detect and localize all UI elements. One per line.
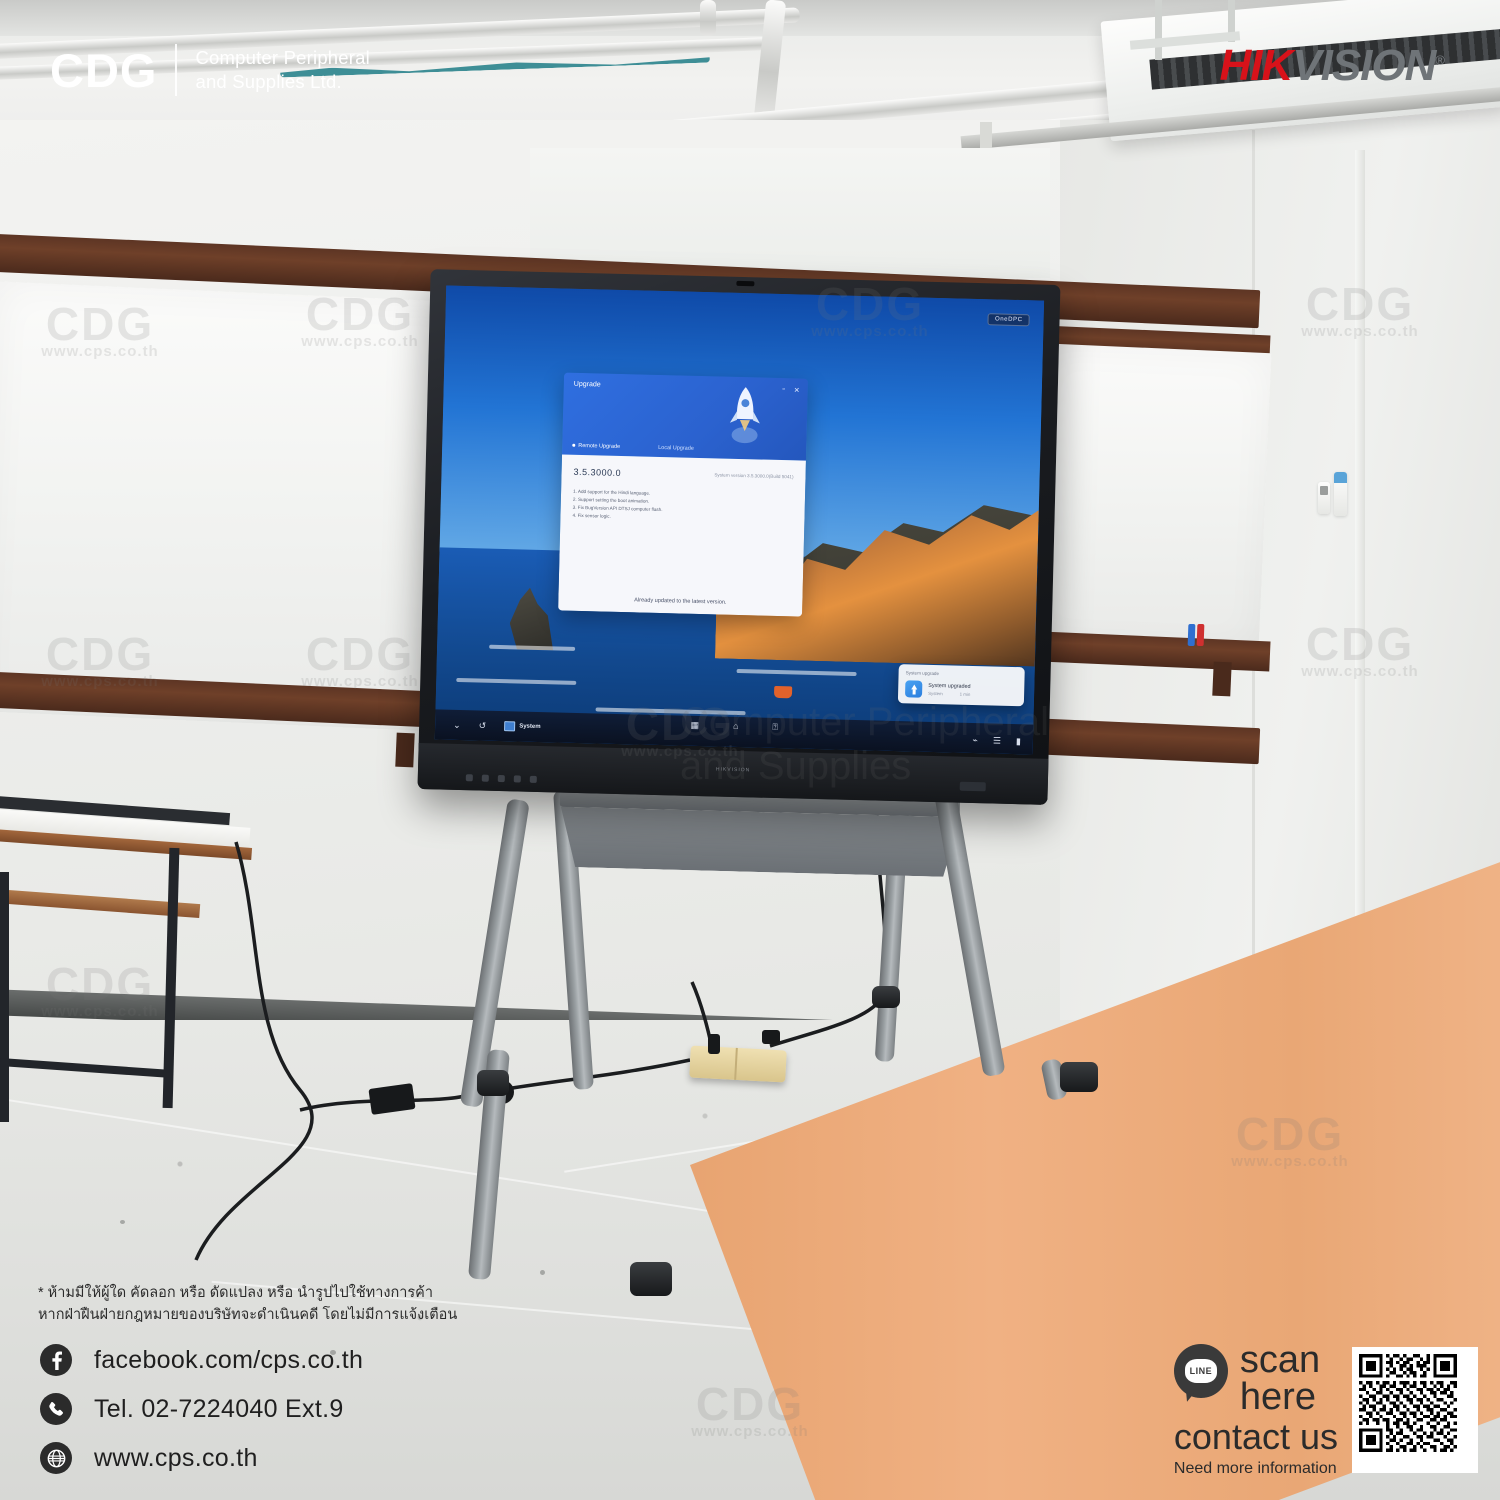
projector-screen [530, 148, 1050, 278]
toast-source: System [928, 691, 943, 696]
hikvision-vision: VISION [1292, 41, 1435, 90]
tab-remote-upgrade[interactable]: Remote Upgrade [572, 443, 620, 450]
upgrade-dialog[interactable]: Upgrade ▫ ✕ Remote Upgrade [558, 373, 808, 617]
system-upgrade-toast[interactable]: System upgrade System upgraded System 1 … [898, 664, 1025, 706]
dialog-window-controls[interactable]: ▫ ✕ [782, 386, 800, 394]
rocket-icon [726, 383, 764, 448]
phone-icon [40, 1393, 72, 1425]
taskbar-status-group[interactable]: ⌁ ☰ ▮ [972, 736, 1021, 746]
logo-divider [175, 44, 177, 96]
dialog-body: 3.5.3000.0 System version 3.5.3000.0(Bui… [558, 454, 806, 616]
taskbar-left-group[interactable]: ⌄ ↺ System [435, 719, 541, 732]
qr-code[interactable] [1352, 1347, 1478, 1473]
disclaimer-line1: * ห้ามมีให้ผู้ใด คัดลอก หรือ ดัดแปลง หรื… [38, 1282, 457, 1304]
dialog-header: Upgrade ▫ ✕ Remote Upgrade [562, 373, 808, 461]
cdg-tagline-line1: Computer Peripheral [195, 46, 370, 70]
stand-caster [872, 986, 900, 1008]
contact-row-facebook[interactable]: facebook.com/cps.co.th [40, 1344, 363, 1376]
contact-block: facebook.com/cps.co.th Tel. 02-7224040 E… [40, 1344, 363, 1491]
toast-header: System upgrade [906, 670, 1018, 678]
panel-button[interactable] [466, 774, 473, 781]
upgrade-icon [905, 680, 922, 697]
tray-bracket [395, 733, 414, 768]
ac-control-display [1334, 472, 1347, 483]
line-cta-block[interactable]: LINE scan here contact us Need more info… [1174, 1342, 1478, 1478]
contact-row-website[interactable]: www.cps.co.th [40, 1442, 363, 1474]
whiteboard-marker [1197, 624, 1205, 646]
toast-meta: System 1 min [928, 691, 970, 697]
registered-icon: ® [1435, 52, 1444, 67]
line-badge-label: LINE [1185, 1359, 1217, 1383]
panel-button[interactable] [514, 775, 521, 782]
line-cta-text: LINE scan here contact us Need more info… [1174, 1342, 1338, 1478]
minimize-icon[interactable]: ▫ [782, 386, 785, 394]
os-badge: OneDPC [988, 313, 1030, 326]
desk-leg [0, 872, 9, 1122]
panel-button-row[interactable] [466, 774, 537, 783]
settings-icon[interactable]: ☰ [993, 736, 1001, 745]
tab-local-upgrade[interactable]: Local Upgrade [658, 445, 694, 452]
globe-icon [40, 1442, 72, 1474]
scan-label-line2: here [1240, 1379, 1320, 1416]
phone-number[interactable]: Tel. 02-7224040 Ext.9 [94, 1395, 344, 1424]
camera-icon [736, 281, 754, 286]
line-icon: LINE [1174, 1344, 1228, 1398]
photo-canvas: OneDPC Upgrade ▫ ✕ [0, 0, 1500, 1500]
contact-row-phone[interactable]: Tel. 02-7224040 Ext.9 [40, 1393, 363, 1425]
panel-brand-plate: HIKVISION [716, 766, 750, 773]
dialog-tabs[interactable]: Remote Upgrade Local Upgrade [572, 443, 694, 452]
back-arrow-icon[interactable]: ↺ [479, 721, 487, 730]
cdg-tagline: Computer Peripheral and Supplies Ltd. [195, 46, 370, 95]
panel-button[interactable] [530, 776, 537, 783]
user-icon[interactable]: ⍰ [772, 723, 778, 732]
facebook-icon [40, 1344, 72, 1376]
whiteboard-marker [1188, 624, 1196, 646]
taskbar-center-group[interactable]: ▦ ⌂ ⍰ [690, 721, 778, 732]
dialog-title: Upgrade [574, 381, 601, 389]
hikvision-logo: HIKVISION® [1219, 44, 1444, 88]
light-switch-toggle[interactable] [1320, 486, 1328, 495]
need-more-info-label: Need more information [1174, 1460, 1337, 1478]
stand-caster [630, 1262, 672, 1296]
apps-grid-icon[interactable]: ▦ [690, 721, 699, 730]
ceiling-conduit [700, 0, 716, 36]
whiteboard-right [1024, 343, 1272, 653]
taskbar-system-label: System [519, 724, 541, 731]
line-cta-top: LINE scan here [1174, 1342, 1320, 1416]
toast-time: 1 min [960, 692, 971, 697]
scan-label-line1: scan [1240, 1342, 1320, 1379]
cdg-wordmark: CDG [50, 47, 157, 94]
stand-caster [477, 1070, 509, 1096]
cdg-logo: CDG Computer Peripheral and Supplies Ltd… [50, 44, 370, 96]
wallpaper-boat [774, 686, 792, 698]
power-strip[interactable] [689, 1046, 787, 1083]
ac-hanger [1155, 0, 1162, 60]
tray-bracket [1212, 662, 1231, 697]
stand-shelf-lip [559, 807, 960, 877]
toast-message: System upgraded [928, 683, 970, 690]
disclaimer: * ห้ามมีให้ผู้ใด คัดลอก หรือ ดัดแปลง หรื… [38, 1282, 457, 1327]
close-icon[interactable]: ✕ [794, 386, 800, 394]
plug [708, 1034, 720, 1054]
whiteboard-left [0, 282, 479, 733]
panel-button[interactable] [482, 775, 489, 782]
battery-icon[interactable]: ▮ [1016, 737, 1021, 746]
taskbar-system-button[interactable]: System [504, 721, 541, 732]
interactive-flat-panel[interactable]: OneDPC Upgrade ▫ ✕ [418, 269, 1061, 805]
disclaimer-line2: หากฝ่าฝืนฝ่ายกฎหมายของบริษัทจะดำเนินคดี … [38, 1304, 457, 1326]
chevron-down-icon[interactable]: ⌄ [453, 720, 461, 729]
plug [762, 1030, 780, 1044]
lock-icon[interactable]: ⌂ [733, 722, 739, 731]
stand-caster [1060, 1062, 1098, 1092]
toast-content: System upgraded System 1 min [905, 680, 1017, 700]
panel-button[interactable] [498, 775, 505, 782]
release-notes: 1. Add support for the Hindi language. 2… [572, 488, 793, 526]
panel-io-ports [960, 782, 986, 792]
website-url[interactable]: www.cps.co.th [94, 1444, 258, 1473]
display-screen[interactable]: OneDPC Upgrade ▫ ✕ [435, 286, 1044, 755]
wifi-icon[interactable]: ⌁ [972, 736, 978, 745]
facebook-url[interactable]: facebook.com/cps.co.th [94, 1346, 363, 1375]
contact-us-label: contact us [1174, 1418, 1338, 1456]
cdg-tagline-line2: and Supplies Ltd. [195, 70, 370, 94]
update-status-text: Already updated to the latest version. [558, 595, 802, 607]
hikvision-hik: HIK [1219, 41, 1292, 90]
system-icon [504, 721, 515, 731]
